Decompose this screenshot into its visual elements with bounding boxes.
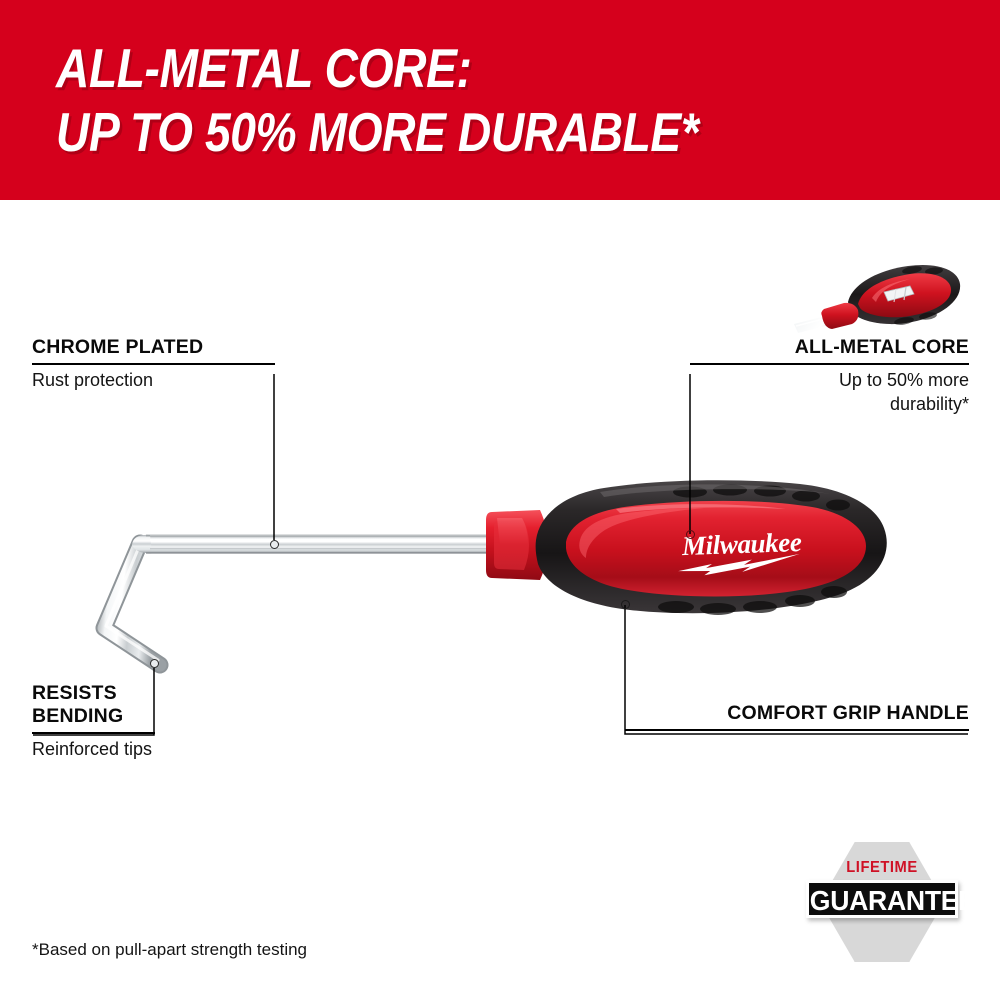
marker-dot-tip bbox=[150, 659, 159, 668]
callout-all-metal-core-subtitle-line-2: durability* bbox=[690, 392, 969, 416]
svg-text:Milwaukee: Milwaukee bbox=[680, 527, 802, 561]
callout-resists-bending-rule bbox=[32, 732, 155, 734]
footnote-text: *Based on pull-apart strength testing bbox=[32, 940, 307, 960]
marker-dot-chrome bbox=[270, 540, 279, 549]
lifetime-guarantee-badge: LIFETIME GUARANTEE bbox=[806, 842, 958, 962]
callout-chrome-plated-subtitle: Rust protection bbox=[32, 368, 275, 392]
callout-all-metal-core-subtitle-line-1: Up to 50% more bbox=[690, 368, 969, 392]
callout-resists-bending-title-line-2: BENDING bbox=[32, 705, 155, 728]
tool-hook-tip bbox=[104, 543, 160, 665]
callout-resists-bending-title-line-1: RESISTS bbox=[32, 682, 155, 705]
inset-cutaway-tool bbox=[792, 258, 968, 342]
inset-ferrule bbox=[821, 303, 858, 329]
badge-lifetime-text: LIFETIME bbox=[812, 859, 952, 877]
infographic-page: ALL-METAL CORE: UP TO 50% MORE DURABLE* bbox=[0, 0, 1000, 1000]
badge-guarantee-text: GUARANTEE bbox=[810, 885, 954, 917]
tool-shaft bbox=[132, 535, 510, 555]
marker-dot-grip bbox=[621, 600, 630, 609]
callout-all-metal-core-rule bbox=[690, 363, 969, 365]
callout-comfort-grip-handle-title: COMFORT GRIP HANDLE bbox=[625, 702, 969, 725]
callout-resists-bending: RESISTS BENDING Reinforced tips bbox=[32, 682, 155, 761]
callout-all-metal-core: ALL-METAL CORE Up to 50% more durability… bbox=[690, 336, 969, 416]
callout-resists-bending-subtitle: Reinforced tips bbox=[32, 737, 155, 761]
marker-dot-core bbox=[686, 530, 695, 539]
callout-chrome-plated-title: CHROME PLATED bbox=[32, 336, 275, 359]
callout-chrome-plated-rule bbox=[32, 363, 275, 365]
callout-comfort-grip-handle: COMFORT GRIP HANDLE bbox=[625, 702, 969, 731]
callout-chrome-plated: CHROME PLATED Rust protection bbox=[32, 336, 275, 392]
callout-comfort-grip-handle-rule bbox=[625, 729, 969, 731]
